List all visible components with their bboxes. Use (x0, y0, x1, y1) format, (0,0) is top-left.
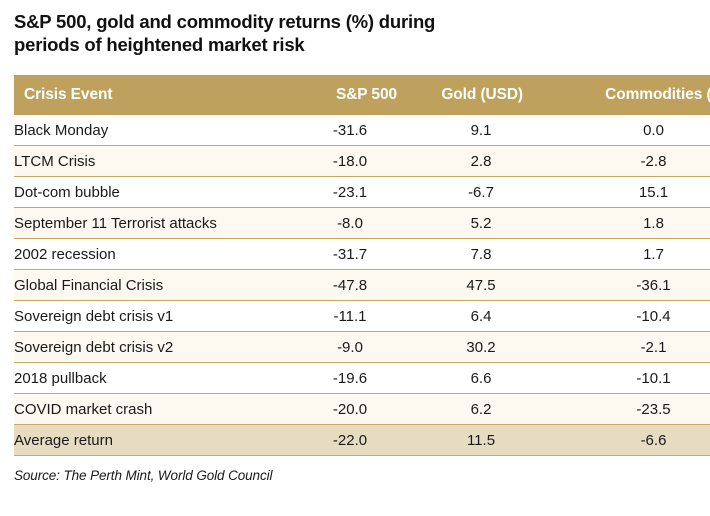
cell-event: COVID market crash (14, 394, 287, 425)
table-row: COVID market crash -20.0 6.2 -23.5 (14, 394, 710, 425)
returns-table-wrapper: Crisis Event S&P 500 Gold (USD) Commodit… (14, 75, 697, 456)
cell-commodities: 15.1 (549, 177, 710, 208)
column-header-sp500: S&P 500 (287, 75, 413, 115)
cell-sp500: -8.0 (287, 208, 413, 239)
table-row-average: Average return -22.0 11.5 -6.6 (14, 425, 710, 456)
column-header-gold: Gold (USD) (413, 75, 549, 115)
cell-event: Black Monday (14, 115, 287, 146)
cell-sp500: -23.1 (287, 177, 413, 208)
cell-gold: 30.2 (413, 332, 549, 363)
table-row: Black Monday -31.6 9.1 0.0 (14, 115, 710, 146)
cell-commodities: -2.8 (549, 146, 710, 177)
cell-gold: 7.8 (413, 239, 549, 270)
cell-event: September 11 Terrorist attacks (14, 208, 287, 239)
table-row: Global Financial Crisis -47.8 47.5 -36.1 (14, 270, 710, 301)
cell-event: Sovereign debt crisis v1 (14, 301, 287, 332)
table-row: September 11 Terrorist attacks -8.0 5.2 … (14, 208, 710, 239)
cell-sp500: -18.0 (287, 146, 413, 177)
table-body: Black Monday -31.6 9.1 0.0 LTCM Crisis -… (14, 115, 710, 456)
cell-sp500: -11.1 (287, 301, 413, 332)
table-row: Sovereign debt crisis v2 -9.0 30.2 -2.1 (14, 332, 710, 363)
cell-commodities: -10.4 (549, 301, 710, 332)
cell-event: Dot-com bubble (14, 177, 287, 208)
returns-table: Crisis Event S&P 500 Gold (USD) Commodit… (14, 75, 710, 456)
cell-commodities: -6.6 (549, 425, 710, 456)
cell-sp500: -19.6 (287, 363, 413, 394)
cell-gold: 47.5 (413, 270, 549, 301)
cell-sp500: -22.0 (287, 425, 413, 456)
cell-gold: -6.7 (413, 177, 549, 208)
cell-event: Sovereign debt crisis v2 (14, 332, 287, 363)
cell-commodities: 1.7 (549, 239, 710, 270)
cell-sp500: -31.6 (287, 115, 413, 146)
cell-commodities: 1.8 (549, 208, 710, 239)
cell-gold: 2.8 (413, 146, 549, 177)
source-note: Source: The Perth Mint, World Gold Counc… (14, 468, 272, 483)
table-header: Crisis Event S&P 500 Gold (USD) Commodit… (14, 75, 710, 115)
cell-event: 2018 pullback (14, 363, 287, 394)
cell-sp500: -31.7 (287, 239, 413, 270)
cell-sp500: -9.0 (287, 332, 413, 363)
cell-commodities: 0.0 (549, 115, 710, 146)
cell-gold: 6.4 (413, 301, 549, 332)
column-header-crisis-event: Crisis Event (14, 75, 287, 115)
table-row: 2018 pullback -19.6 6.6 -10.1 (14, 363, 710, 394)
cell-gold: 11.5 (413, 425, 549, 456)
cell-sp500: -20.0 (287, 394, 413, 425)
table-row: Sovereign debt crisis v1 -11.1 6.4 -10.4 (14, 301, 710, 332)
cell-event: LTCM Crisis (14, 146, 287, 177)
cell-commodities: -10.1 (549, 363, 710, 394)
cell-commodities: -2.1 (549, 332, 710, 363)
cell-event: Global Financial Crisis (14, 270, 287, 301)
table-header-row: Crisis Event S&P 500 Gold (USD) Commodit… (14, 75, 710, 115)
cell-sp500: -47.8 (287, 270, 413, 301)
cell-commodities: -23.5 (549, 394, 710, 425)
cell-gold: 6.2 (413, 394, 549, 425)
cell-gold: 9.1 (413, 115, 549, 146)
page-title: S&P 500, gold and commodity returns (%) … (14, 10, 574, 56)
table-row: Dot-com bubble -23.1 -6.7 15.1 (14, 177, 710, 208)
title-line-2: periods of heightened market risk (14, 33, 574, 56)
table-row: 2002 recession -31.7 7.8 1.7 (14, 239, 710, 270)
cell-commodities: -36.1 (549, 270, 710, 301)
cell-event: Average return (14, 425, 287, 456)
column-header-commodities: Commodities (USD) (549, 75, 710, 115)
figure-container: S&P 500, gold and commodity returns (%) … (0, 0, 710, 516)
cell-gold: 5.2 (413, 208, 549, 239)
table-row: LTCM Crisis -18.0 2.8 -2.8 (14, 146, 710, 177)
cell-gold: 6.6 (413, 363, 549, 394)
title-line-1: S&P 500, gold and commodity returns (%) … (14, 11, 435, 32)
cell-event: 2002 recession (14, 239, 287, 270)
